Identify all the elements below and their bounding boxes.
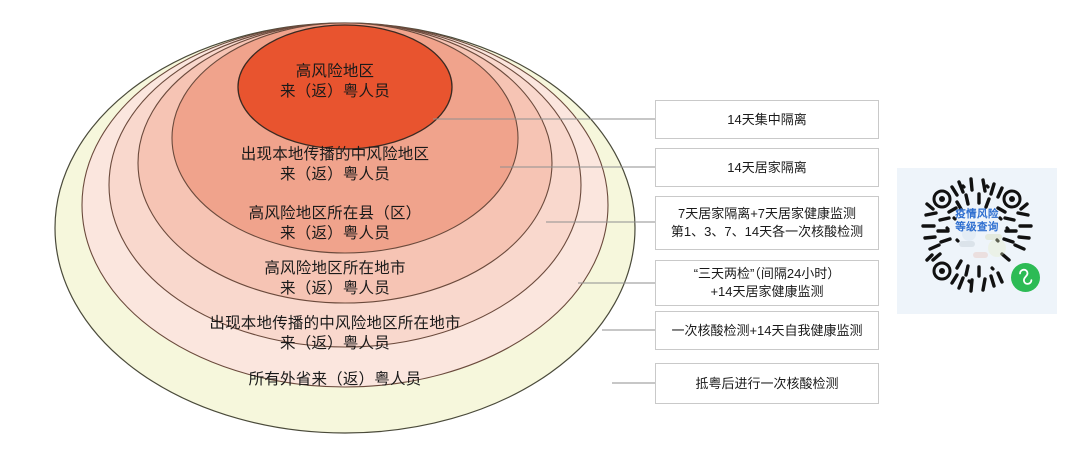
callout-box-6[interactable]: 抵粤后进行一次核酸检测 bbox=[655, 363, 879, 404]
ring-4-label-line2: 来（返）粤人员 bbox=[0, 279, 670, 299]
callout-box-2[interactable]: 14天居家隔离 bbox=[655, 148, 879, 187]
callout-2-line1: 14天居家隔离 bbox=[727, 159, 806, 177]
ring-4-label-line1: 高风险地区所在地市 bbox=[0, 259, 670, 279]
screenshot-root: 高风险地区 来（返）粤人员 出现本地传播的中风险地区 来（返）粤人员 高风险地区… bbox=[0, 0, 1080, 463]
ring-5-label: 出现本地传播的中风险地区所在地市 来（返）粤人员 bbox=[0, 314, 670, 354]
callout-6-line1: 抵粤后进行一次核酸检测 bbox=[695, 375, 838, 393]
ring-1-label-line1: 高风险地区 bbox=[0, 62, 670, 82]
ring-1-label: 高风险地区 来（返）粤人员 bbox=[0, 62, 670, 102]
qr-code-panel[interactable]: 疫情风险 等级查询 bbox=[897, 168, 1057, 314]
callout-5-line1: 一次核酸检测+14天自我健康监测 bbox=[671, 322, 862, 340]
ring-2-label-line2: 来（返）粤人员 bbox=[0, 165, 670, 185]
nested-ellipse-diagram: 高风险地区 来（返）粤人员 出现本地传播的中风险地区 来（返）粤人员 高风险地区… bbox=[0, 0, 670, 463]
callout-box-5[interactable]: 一次核酸检测+14天自我健康监测 bbox=[655, 311, 879, 350]
wechat-miniprogram-badge-icon bbox=[1011, 263, 1040, 292]
ring-3-label: 高风险地区所在县（区） 来（返）粤人员 bbox=[0, 204, 670, 244]
callout-4-line1: “三天两检”（间隔24小时） bbox=[694, 265, 841, 283]
callout-4-line2: +14天居家健康监测 bbox=[710, 283, 823, 301]
qr-code-icon bbox=[897, 168, 1057, 314]
callout-box-1[interactable]: 14天集中隔离 bbox=[655, 100, 879, 139]
callout-box-4[interactable]: “三天两检”（间隔24小时） +14天居家健康监测 bbox=[655, 260, 879, 306]
ring-1-label-line2: 来（返）粤人员 bbox=[0, 82, 670, 102]
callout-3-line1: 7天居家隔离+7天居家健康监测 bbox=[678, 205, 856, 223]
ring-5-label-line2: 来（返）粤人员 bbox=[0, 334, 670, 354]
callout-box-3[interactable]: 7天居家隔离+7天居家健康监测 第1、3、7、14天各一次核酸检测 bbox=[655, 196, 879, 250]
ring-2-label-line1: 出现本地传播的中风险地区 bbox=[0, 145, 670, 165]
callout-3-line2: 第1、3、7、14天各一次核酸检测 bbox=[671, 223, 863, 241]
ring-5-label-line1: 出现本地传播的中风险地区所在地市 bbox=[0, 314, 670, 334]
ring-3-label-line1: 高风险地区所在县（区） bbox=[0, 204, 670, 224]
ring-4-label: 高风险地区所在地市 来（返）粤人员 bbox=[0, 259, 670, 299]
ring-6-label: 所有外省来（返）粤人员 bbox=[0, 370, 670, 390]
callout-1-line1: 14天集中隔离 bbox=[727, 111, 806, 129]
ring-2-label: 出现本地传播的中风险地区 来（返）粤人员 bbox=[0, 145, 670, 185]
ring-6-label-line1: 所有外省来（返）粤人员 bbox=[0, 370, 670, 390]
ring-3-label-line2: 来（返）粤人员 bbox=[0, 224, 670, 244]
